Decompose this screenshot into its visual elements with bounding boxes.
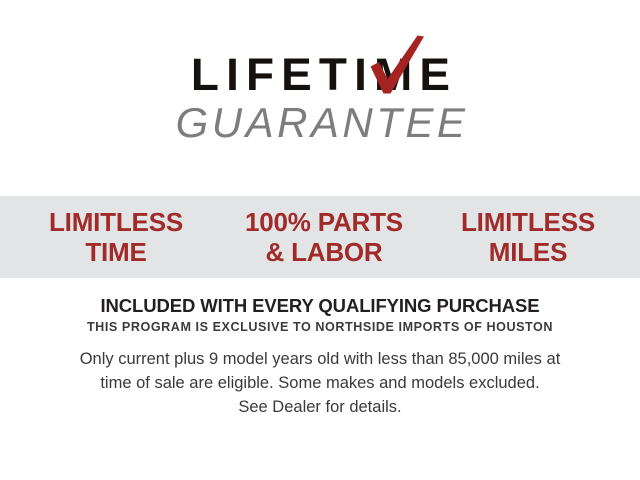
- feature-line-1: 100% PARTS: [216, 207, 432, 237]
- logo-secondary-text: GUARANTEE: [172, 102, 469, 144]
- feature-line-1: LIMITLESS: [434, 207, 622, 237]
- lifetime-guarantee-banner: LIFETIME GUARANTEE LIMITLESS TIME 100% P…: [0, 0, 640, 480]
- feature-parts-labor: 100% PARTS & LABOR: [216, 207, 432, 267]
- feature-limitless-time: LIMITLESS TIME: [18, 207, 214, 267]
- headline: INCLUDED WITH EVERY QUALIFYING PURCHASE: [0, 295, 640, 317]
- fineprint-line: See Dealer for details.: [0, 396, 640, 420]
- feature-line-2: & LABOR: [216, 237, 432, 267]
- logo-block: LIFETIME GUARANTEE: [0, 52, 640, 144]
- feature-band: LIMITLESS TIME 100% PARTS & LABOR LIMITL…: [0, 196, 640, 278]
- logo-lockup: LIFETIME GUARANTEE: [172, 52, 469, 144]
- fineprint-line: Only current plus 9 model years old with…: [0, 348, 640, 372]
- logo-primary-text: LIFETIME: [169, 52, 472, 97]
- feature-line-1: LIMITLESS: [18, 207, 214, 237]
- fineprint-line: time of sale are eligible. Some makes an…: [0, 372, 640, 396]
- feature-line-2: MILES: [434, 237, 622, 267]
- feature-line-2: TIME: [18, 237, 214, 267]
- subheadline: THIS PROGRAM IS EXCLUSIVE TO NORTHSIDE I…: [0, 320, 640, 335]
- feature-limitless-miles: LIMITLESS MILES: [434, 207, 622, 267]
- fineprint-disclaimer: Only current plus 9 model years old with…: [0, 348, 640, 420]
- body-block: INCLUDED WITH EVERY QUALIFYING PURCHASE …: [0, 295, 640, 420]
